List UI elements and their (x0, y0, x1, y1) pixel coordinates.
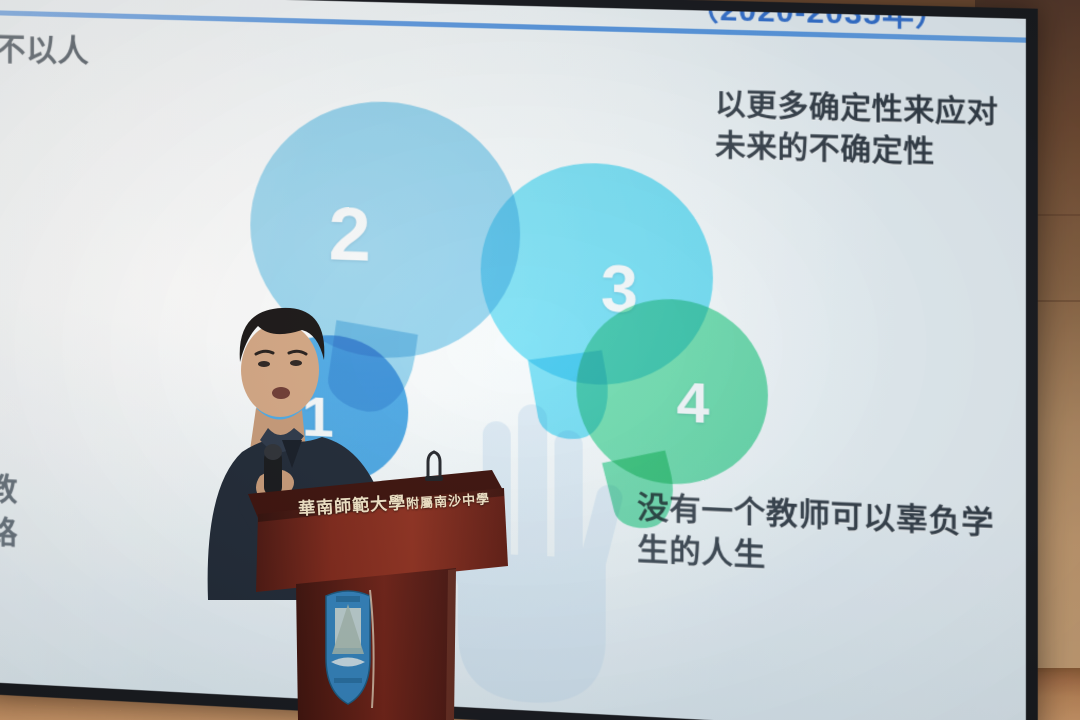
quote-bottom-left-line1: 能化是教 (0, 464, 18, 512)
quote-top-right-line2: 未来的不确定性 (715, 126, 998, 176)
gooseneck-microphone-icon (418, 448, 452, 482)
bubble-2-number: 2 (328, 196, 370, 273)
bubble-4-number: 4 (677, 373, 710, 432)
quote-bottom-left-line2: 必由之路 (0, 507, 18, 556)
quote-top-right: 以更多确定性来应对 未来的不确定性 (715, 85, 998, 176)
photo-scene: （2020-2035年） 展从来不以人 转移 以更多确定性来应对 未来的不确定性… (0, 0, 1080, 720)
quote-top-left: 展从来不以人 转移 (0, 26, 89, 117)
quote-bottom-right: 没有一个教师可以辜负学 生的人生 (637, 487, 994, 589)
quote-bottom-left: 能化是教 必由之路 (0, 464, 18, 555)
quote-top-left-line1: 展从来不以人 (0, 26, 89, 74)
podium: 華南師範大學附屬南沙中學 (242, 462, 542, 720)
quote-top-left-line2: 转移 (0, 68, 89, 116)
